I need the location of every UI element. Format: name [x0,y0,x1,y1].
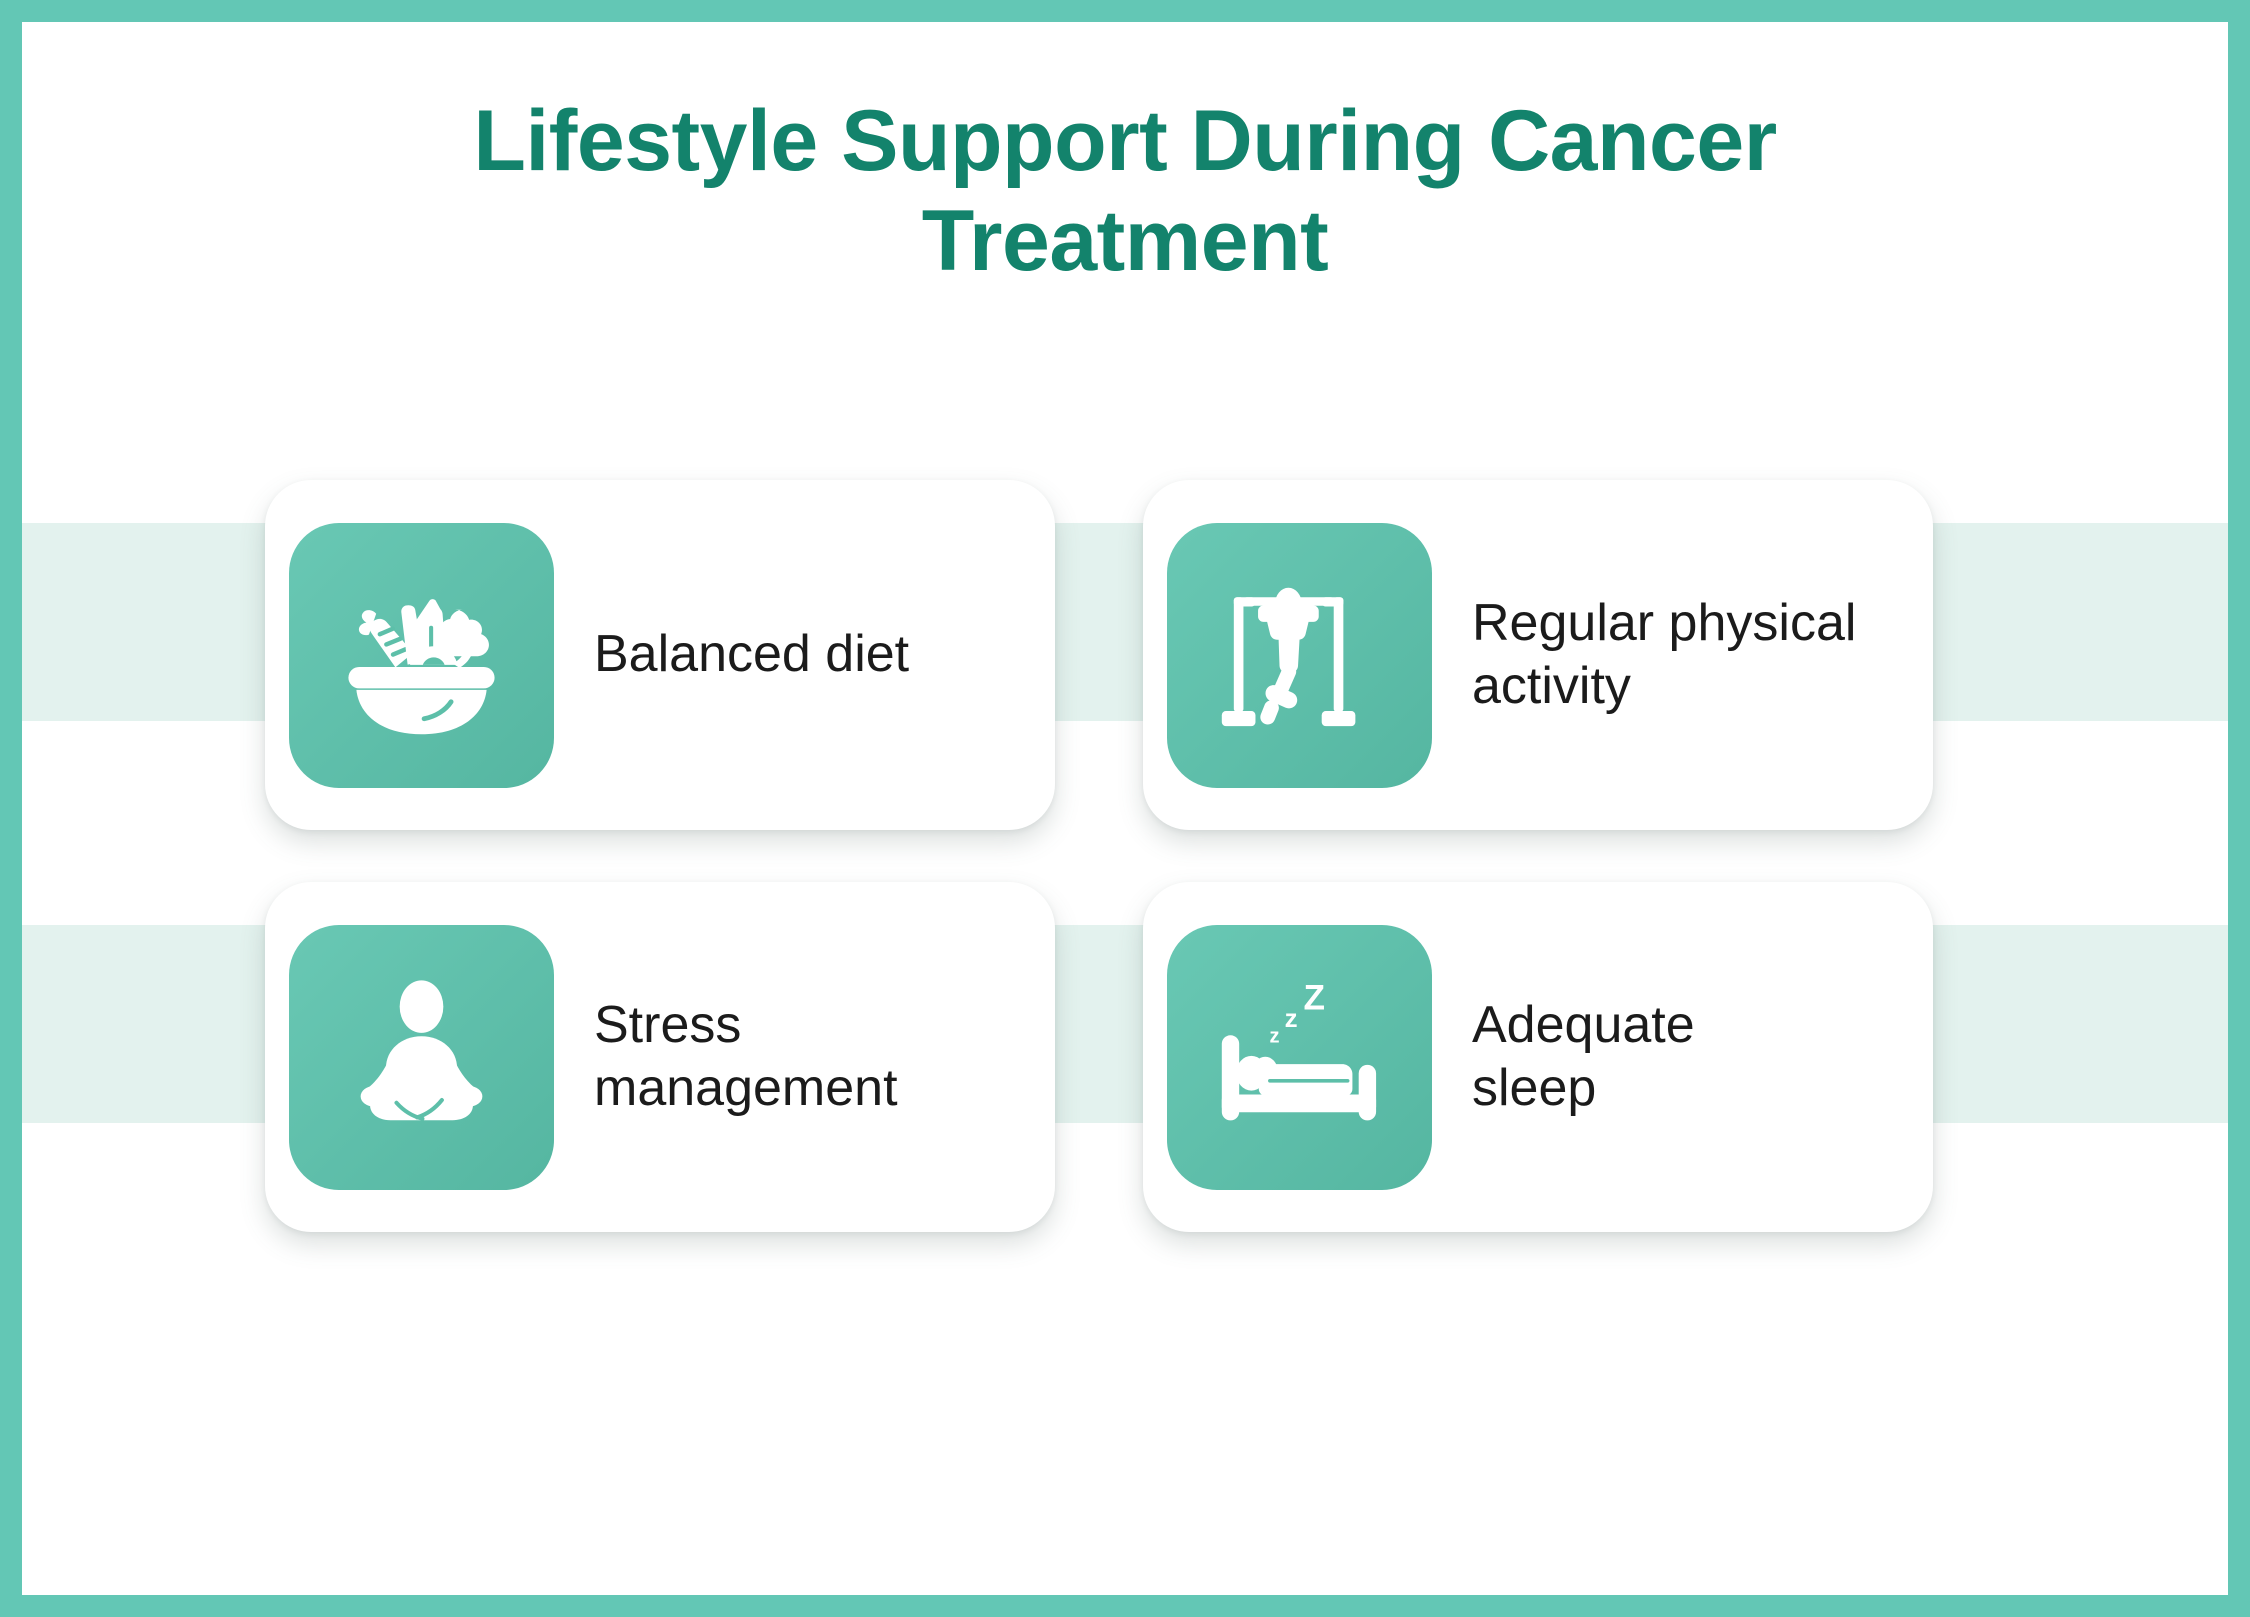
card-grid: Balanced diet [22,22,2228,1595]
card-label-adequate-sleep: Adequate sleep [1472,994,1695,1121]
svg-text:z: z [1269,1025,1279,1047]
icon-tile-regular-physical-activity [1167,523,1432,788]
svg-text:z: z [1285,1004,1298,1032]
svg-text:Z: Z [1304,978,1325,1017]
card-label-regular-physical-activity: Regular physical activity [1472,592,1856,719]
pull-up-bar-icon [1207,563,1392,748]
icon-tile-adequate-sleep: Z z z [1167,925,1432,1190]
meditation-lotus-icon [329,965,514,1150]
card-regular-physical-activity[interactable]: Regular physical activity [1143,480,1933,830]
icon-tile-balanced-diet [289,523,554,788]
bed-sleep-zzz-icon: Z z z [1207,965,1392,1150]
card-label-stress-management: Stress management [594,994,898,1121]
card-label-balanced-diet: Balanced diet [594,623,909,686]
poster-canvas: Lifestyle Support During Cancer Treatmen… [22,22,2228,1595]
salad-bowl-icon [329,563,514,748]
icon-tile-stress-management [289,925,554,1190]
card-stress-management[interactable]: Stress management [265,882,1055,1232]
card-adequate-sleep[interactable]: Z z z [1143,882,1933,1232]
poster-frame: Lifestyle Support During Cancer Treatmen… [0,0,2250,1617]
card-balanced-diet[interactable]: Balanced diet [265,480,1055,830]
